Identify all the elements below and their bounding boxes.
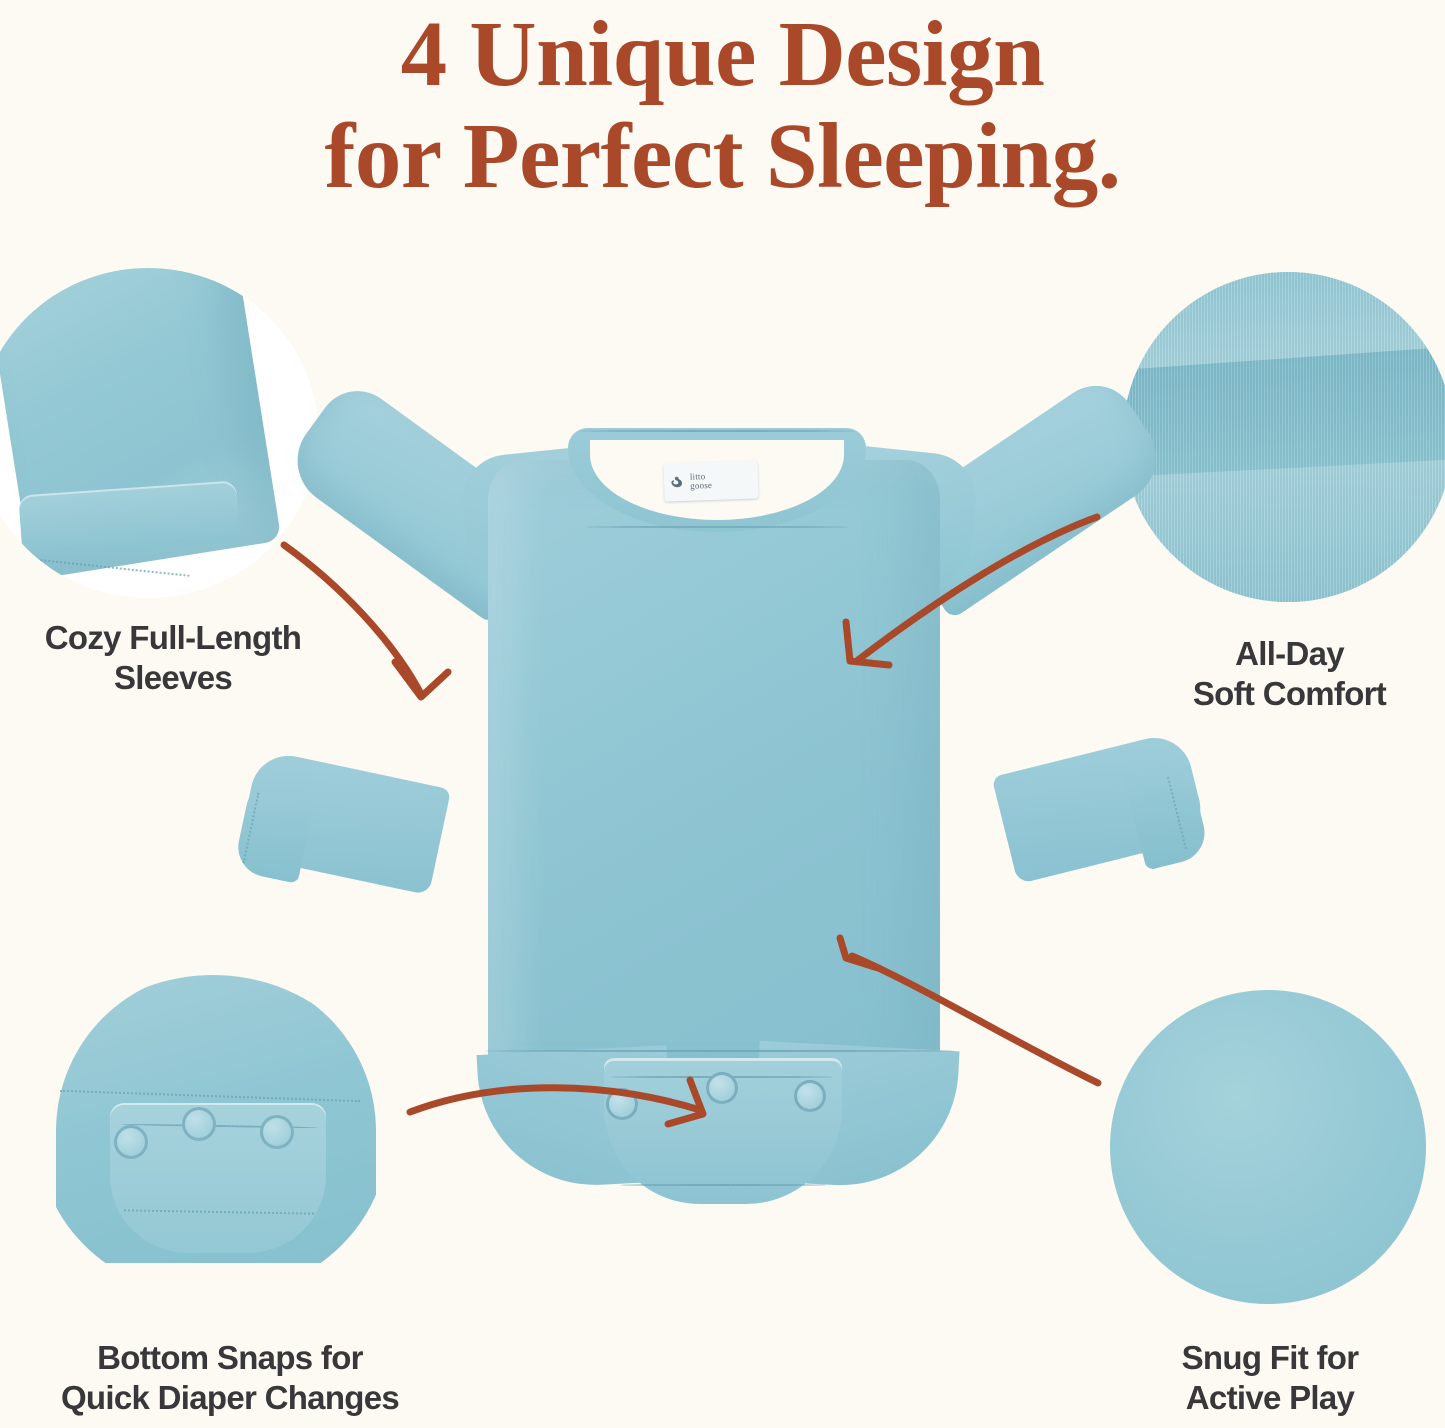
- feature-label-line-2: Active Play: [1125, 1378, 1415, 1418]
- crotch-seam-line: [484, 1050, 954, 1052]
- feature-label-bottom-snaps: Bottom Snaps for Quick Diaper Changes: [10, 1338, 450, 1419]
- feature-label-all-day-soft-comfort: All-Day Soft Comfort: [1142, 634, 1437, 715]
- headline-line-2: for Perfect Sleeping.: [0, 106, 1445, 208]
- feature-label-line-2: Sleeves: [8, 658, 338, 698]
- feature-label-snug-fit: Snug Fit for Active Play: [1125, 1338, 1415, 1419]
- brand-name-line-2: goose: [690, 481, 712, 491]
- crotch-seam-line: [620, 1184, 826, 1186]
- feature-label-line-1: Bottom Snaps for: [10, 1338, 450, 1378]
- feature-label-line-1: All-Day: [1142, 634, 1437, 674]
- neckline-stitch-line: [586, 526, 848, 528]
- page-title: 4 Unique Design for Perfect Sleeping.: [0, 4, 1445, 209]
- crotch-snap-button: [794, 1080, 826, 1112]
- brand-tag: litto goose: [663, 460, 758, 501]
- feature-label-line-1: Snug Fit for: [1125, 1338, 1415, 1378]
- crotch-snap-button: [606, 1088, 638, 1120]
- brand-tag-text: litto goose: [690, 472, 713, 491]
- snap-button: [182, 1107, 216, 1141]
- headline-line-1: 4 Unique Design: [0, 4, 1445, 106]
- product-infographic: 4 Unique Design for Perfect Sleeping.: [0, 0, 1445, 1428]
- feature-label-line-2: Soft Comfort: [1142, 674, 1437, 714]
- product-bodysuit: litto goose: [228, 400, 1218, 1230]
- goose-icon: [670, 475, 686, 490]
- feature-label-cozy-full-length-sleeves: Cozy Full-Length Sleeves: [8, 618, 338, 699]
- snap-button: [114, 1125, 148, 1159]
- torso-body: [488, 460, 940, 1090]
- crotch-snap-button: [706, 1072, 738, 1104]
- neckline-stitch-line: [580, 430, 856, 432]
- feature-label-line-2: Quick Diaper Changes: [10, 1378, 450, 1418]
- feature-label-line-1: Cozy Full-Length: [8, 618, 338, 658]
